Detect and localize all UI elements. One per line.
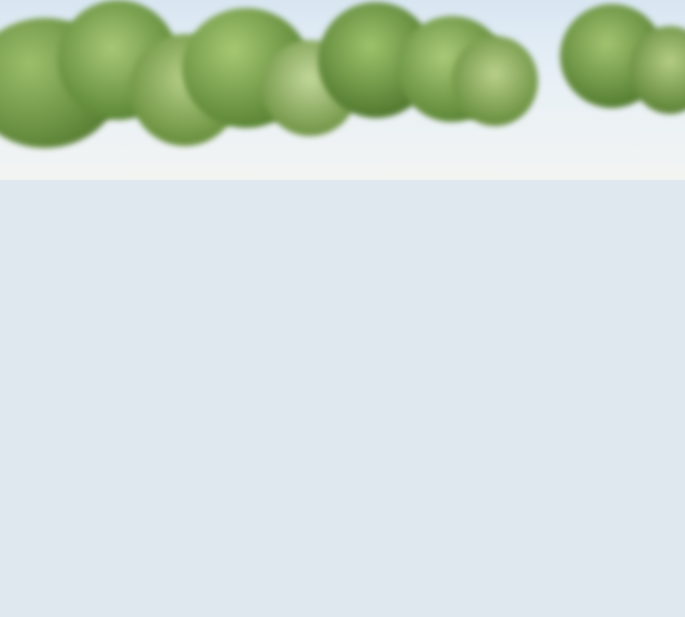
tree-foliage (452, 36, 538, 126)
hero-banner: Vuoi “andare” ad energia pulita? Ricevi … (0, 0, 685, 617)
background-photo (0, 0, 685, 617)
tree-foliage (0, 80, 96, 190)
